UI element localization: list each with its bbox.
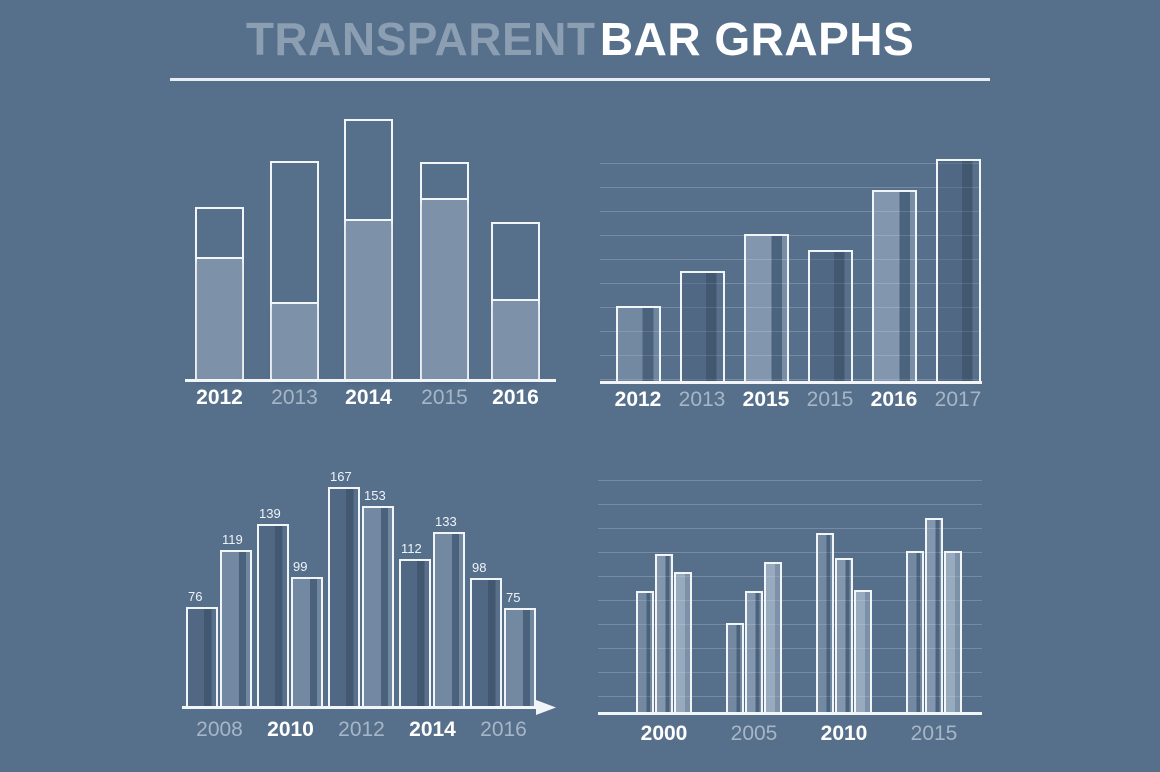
tick-label-2012: 2012 <box>326 719 397 740</box>
tick-label-2016: 2016 <box>862 389 926 410</box>
tick-label-2017: 2017 <box>926 389 990 410</box>
bar-2010-a[interactable] <box>816 533 834 713</box>
gridline <box>598 504 982 505</box>
bar-2015-b[interactable] <box>808 250 853 382</box>
tick-label-2015: 2015 <box>898 723 970 744</box>
value-label-76: 76 <box>188 590 202 603</box>
gridline <box>600 283 980 284</box>
bar-2014-fill <box>346 219 391 380</box>
tick-label-2008: 2008 <box>184 719 255 740</box>
bar-2010-b[interactable] <box>291 577 323 707</box>
chart-2-x-axis <box>600 381 982 384</box>
chart-stacked-outline: 2012 2013 2014 2015 2016 <box>170 100 570 420</box>
chart-3-x-axis <box>182 706 545 709</box>
gridline <box>600 259 980 260</box>
bar-2012-fill <box>197 257 242 380</box>
chart-3-plot-area: 76 119 139 99 167 153 112 133 98 75 2008… <box>170 470 570 760</box>
tick-label-2014: 2014 <box>333 387 404 408</box>
bar-2005-b[interactable] <box>745 591 763 713</box>
bar-2000-a[interactable] <box>636 591 654 713</box>
bar-2005-c[interactable] <box>764 562 782 713</box>
tick-label-2014: 2014 <box>397 719 468 740</box>
tick-label-2016: 2016 <box>468 719 539 740</box>
gridline <box>600 187 980 188</box>
tick-label-2010: 2010 <box>255 719 326 740</box>
chart-4-x-axis <box>598 712 982 715</box>
bar-2015-a[interactable] <box>906 551 924 713</box>
bar-2010-b[interactable] <box>835 558 853 713</box>
tick-label-2013: 2013 <box>670 389 734 410</box>
bar-2017[interactable] <box>936 159 981 382</box>
value-label-75: 75 <box>506 591 520 604</box>
value-label-98: 98 <box>472 561 486 574</box>
bar-2016[interactable] <box>491 222 540 380</box>
gridline <box>600 211 980 212</box>
bar-2012[interactable] <box>195 207 244 380</box>
bar-2010-a[interactable] <box>257 524 289 707</box>
bar-2015-fill <box>422 198 467 380</box>
bar-2013[interactable] <box>680 271 725 382</box>
tick-label-2000: 2000 <box>628 723 700 744</box>
bar-2016-a[interactable] <box>470 578 502 707</box>
bar-2008-a[interactable] <box>186 607 218 707</box>
title-word-transparent: TRANSPARENT <box>246 14 596 65</box>
bar-2016[interactable] <box>872 190 917 382</box>
bar-2008-b[interactable] <box>220 550 252 707</box>
bar-2012-b[interactable] <box>362 506 394 707</box>
bar-2013[interactable] <box>270 161 319 380</box>
chart-single-gridded: 2012 2013 2015 2015 2016 2017 <box>590 130 990 420</box>
tick-label-2005: 2005 <box>718 723 790 744</box>
bar-2010-c[interactable] <box>854 590 872 713</box>
bar-2016-fill <box>493 299 538 380</box>
bar-2014[interactable] <box>344 119 393 380</box>
chart-4-plot-area: 2000 2005 2010 2015 <box>590 470 990 760</box>
gridline <box>600 163 980 164</box>
value-label-153: 153 <box>364 489 386 502</box>
value-label-99: 99 <box>293 560 307 573</box>
chart-1-plot-area: 2012 2013 2014 2015 2016 <box>170 100 570 420</box>
bar-2015-c[interactable] <box>944 551 962 713</box>
bar-2016-b[interactable] <box>504 608 536 707</box>
chart-2-plot-area: 2012 2013 2015 2015 2016 2017 <box>590 130 990 420</box>
bar-2015[interactable] <box>420 162 469 380</box>
bar-2014-a[interactable] <box>399 559 431 707</box>
bar-2015-b[interactable] <box>925 518 943 713</box>
value-label-133: 133 <box>435 515 457 528</box>
chart-1-x-axis <box>185 379 556 382</box>
bar-2014-b[interactable] <box>433 532 465 707</box>
tick-label-2012: 2012 <box>184 387 255 408</box>
bar-2015-a[interactable] <box>744 234 789 382</box>
tick-label-2015-a: 2015 <box>734 389 798 410</box>
bar-2013-fill <box>272 302 317 380</box>
bar-2012[interactable] <box>616 306 661 382</box>
tick-label-2015: 2015 <box>409 387 480 408</box>
title-word-bar-graphs: BAR GRAPHS <box>600 14 914 65</box>
axis-arrow-icon <box>536 698 558 718</box>
tick-label-2010: 2010 <box>808 723 880 744</box>
title-divider-rule <box>170 78 990 81</box>
page-title: TRANSPARENT BAR GRAPHS <box>0 14 1160 65</box>
tick-label-2013: 2013 <box>259 387 330 408</box>
tick-label-2016: 2016 <box>480 387 551 408</box>
bar-2000-b[interactable] <box>655 554 673 713</box>
value-label-167: 167 <box>330 470 352 483</box>
value-label-139: 139 <box>259 507 281 520</box>
tick-label-2015-b: 2015 <box>798 389 862 410</box>
bar-2005-a[interactable] <box>726 623 744 713</box>
chart-triple-gridded: 2000 2005 2010 2015 <box>590 470 990 760</box>
gridline <box>598 480 982 481</box>
bar-2012-a[interactable] <box>328 487 360 707</box>
chart-paired-labelled: 76 119 139 99 167 153 112 133 98 75 2008… <box>170 470 570 760</box>
value-label-119: 119 <box>222 533 243 546</box>
value-label-112: 112 <box>401 542 422 555</box>
bar-2000-c[interactable] <box>674 572 692 713</box>
tick-label-2012: 2012 <box>606 389 670 410</box>
gridline <box>600 235 980 236</box>
